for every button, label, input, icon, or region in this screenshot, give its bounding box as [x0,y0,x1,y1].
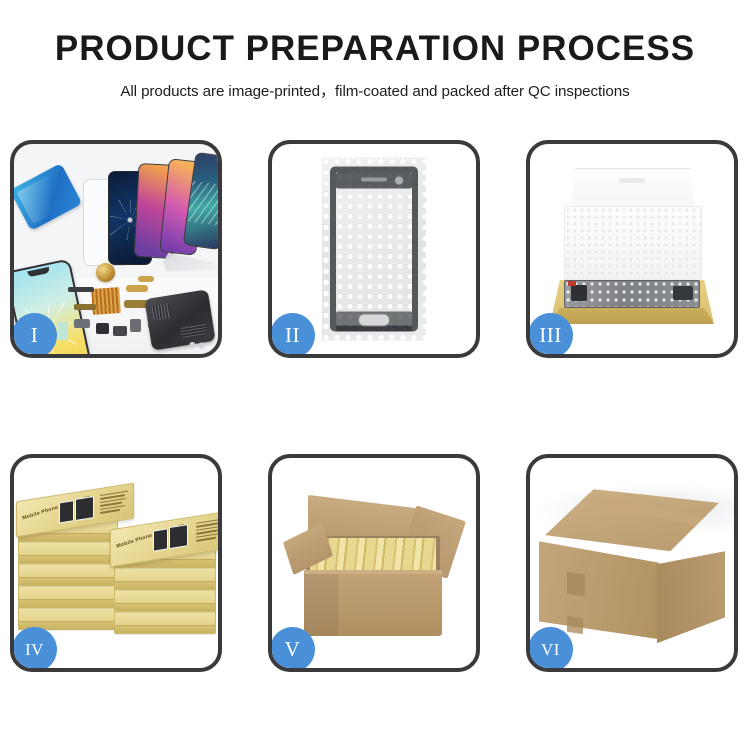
open-carton-icon [284,478,464,648]
step-card-6: VI [526,454,738,672]
stack-box [18,584,118,608]
stack-box [114,588,216,612]
step-badge-1: I [12,313,57,358]
box-spec-list [196,518,218,543]
step-badge-3: III [528,313,573,358]
step-badge-2: II [270,313,315,358]
foam-pad-icon [564,206,702,280]
step-badge-5: V [270,627,315,672]
page-root: PRODUCT PREPARATION PROCESS All products… [0,0,750,750]
box-spec-list [100,491,128,516]
box-phone-thumb-icon [75,496,94,521]
page-header: PRODUCT PREPARATION PROCESS All products… [0,0,750,101]
step-card-4: Mobile Phone Spare Parts Mobile Phone Sp… [10,454,222,672]
part-camera-module-icon [96,323,109,334]
step-card-1: I [10,140,222,358]
page-title: PRODUCT PREPARATION PROCESS [0,31,750,66]
step-badge-4: IV [12,627,57,672]
part-battery-icon [58,322,68,340]
bubble-wrapped-screen-icon [322,158,426,341]
part-gold-ribbon-icon [126,285,148,292]
part-flex-strip-icon [68,287,94,292]
step-card-5: V [268,454,480,672]
stack-box [114,610,216,634]
sealed-carton-icon [539,489,725,645]
step-badge-6: VI [528,627,573,672]
part-gold-tab-icon [138,276,154,282]
process-steps-grid: I II [10,140,740,672]
part-connector-icon [74,319,90,328]
box-phone-thumb-icon [169,524,188,549]
phone-blue-film-icon [14,163,82,231]
box-phone-thumb-icon [59,500,74,523]
packed-screen-icon [564,280,700,308]
stack-box [18,540,118,564]
part-chip-grid-icon [91,287,121,315]
stack-box [18,562,118,586]
stack-box [114,566,216,590]
step-card-2: II [268,140,480,358]
step-card-3: III [526,140,738,358]
part-coil-icon [96,263,115,282]
part-speaker-icon [113,326,127,336]
box-phone-thumb-icon [153,528,168,551]
part-gold-flex-icon [74,304,96,310]
retail-box-stack-icon: Mobile Phone Spare Parts Mobile Phone Sp… [18,472,214,654]
part-button-icon [130,319,141,332]
open-inner-box-icon [542,160,722,338]
page-subtitle: All products are image-printed，film-coat… [0,79,750,101]
screws-icon [188,340,210,350]
